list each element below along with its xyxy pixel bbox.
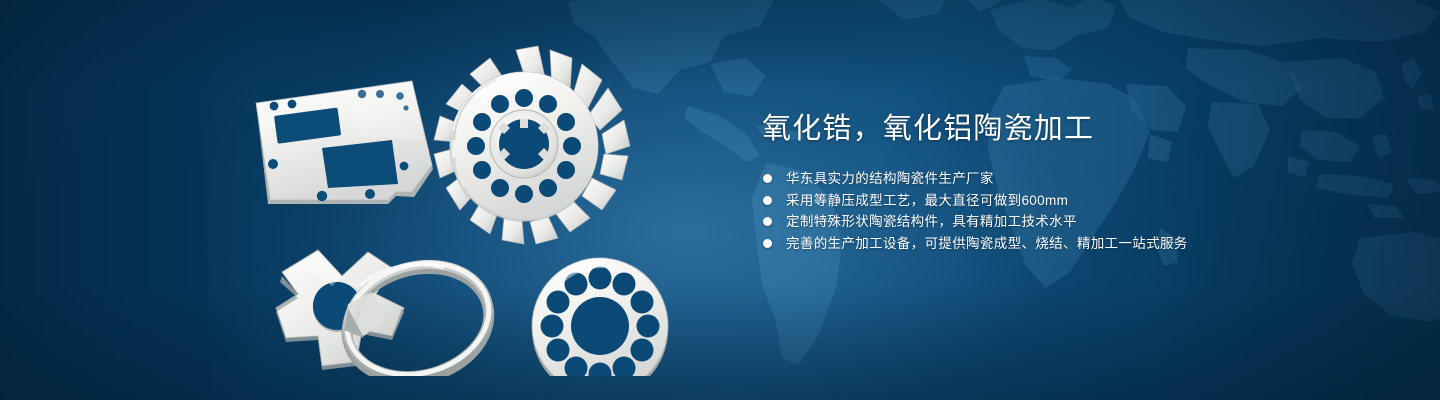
bullet-dot-icon	[763, 239, 772, 248]
hero-banner: 氧化锆，氧化铝陶瓷加工 华东具实力的结构陶瓷件生产厂家 采用等静压成型工艺，最大…	[0, 0, 1440, 400]
list-item: 华东具实力的结构陶瓷件生产厂家	[763, 168, 1362, 190]
list-item: 完善的生产加工设备，可提供陶瓷成型、烧结、精加工一站式服务	[763, 233, 1362, 255]
list-item-label: 采用等静压成型工艺，最大直径可做到600mm	[786, 194, 1068, 208]
list-item-label: 完善的生产加工设备，可提供陶瓷成型、烧结、精加工一站式服务	[786, 237, 1188, 251]
bullet-dot-icon	[763, 196, 772, 205]
feature-list: 华东具实力的结构陶瓷件生产厂家 采用等静压成型工艺，最大直径可做到600mm 定…	[763, 168, 1362, 254]
list-item-label: 定制特殊形状陶瓷结构件，具有精加工技术水平	[786, 215, 1077, 229]
page-title: 氧化锆，氧化铝陶瓷加工	[762, 112, 1362, 146]
ceramic-cross-part	[276, 250, 404, 370]
bullet-dot-icon	[763, 217, 772, 226]
list-item: 采用等静压成型工艺，最大直径可做到600mm	[763, 190, 1362, 212]
ceramic-impeller-part	[434, 46, 630, 244]
banner-text-block: 氧化锆，氧化铝陶瓷加工 华东具实力的结构陶瓷件生产厂家 采用等静压成型工艺，最大…	[762, 112, 1362, 254]
list-item: 定制特殊形状陶瓷结构件，具有精加工技术水平	[763, 211, 1362, 233]
list-item-label: 华东具实力的结构陶瓷件生产厂家	[786, 172, 994, 186]
ceramic-hole-disc-part	[532, 258, 668, 376]
bullet-dot-icon	[763, 174, 772, 183]
ceramic-products-image	[236, 36, 706, 376]
ceramic-plate-part	[256, 80, 433, 204]
